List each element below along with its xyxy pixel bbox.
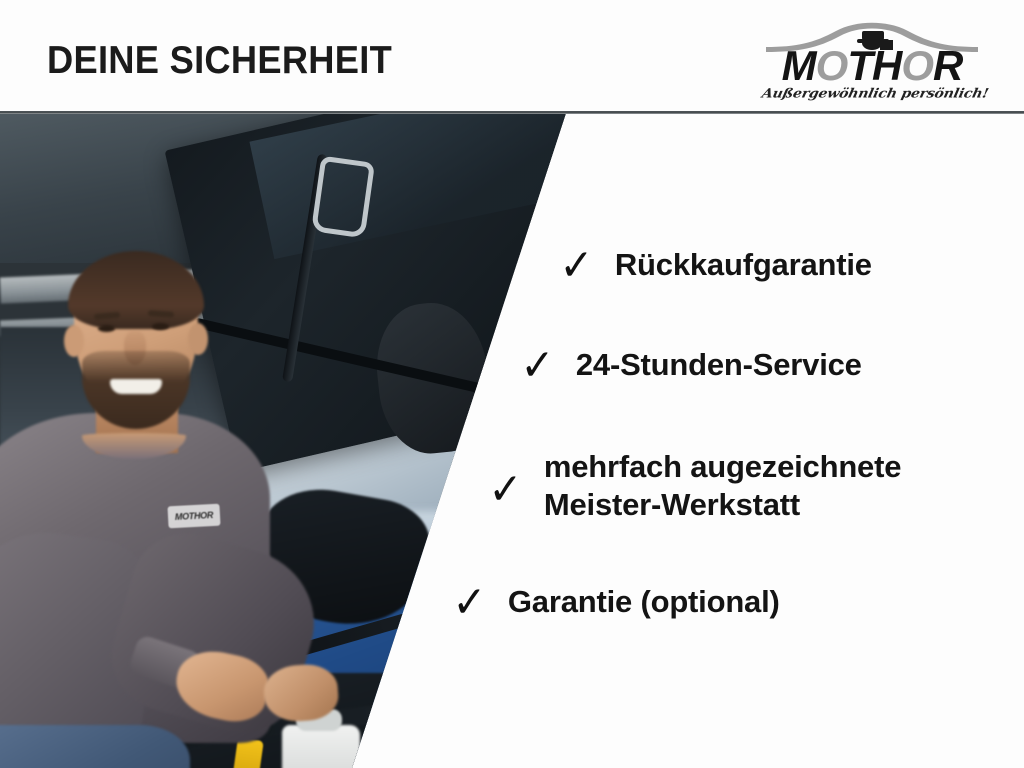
feature-item-meister-werkstatt[interactable]: ✓ mehrfach augezeichnete Meister-Werksta… <box>487 448 901 524</box>
mechanic-ear <box>188 323 208 355</box>
feature-item-garantie-optional[interactable]: ✓ Garantie (optional) <box>451 583 780 623</box>
logo-tagline: Außergewöhnlich persönlich! <box>760 87 983 102</box>
feature-item-24-stunden-service[interactable]: ✓ 24-Stunden-Service <box>519 346 862 386</box>
mechanic-eye <box>98 325 115 332</box>
page-title: DEINE SICHERHEIT <box>47 39 392 83</box>
mechanic-smile <box>110 379 162 394</box>
mothor-logo[interactable]: MOTHOR Außergewöhnlich persönlich! <box>762 18 982 106</box>
hood-latch-icon <box>311 156 375 239</box>
mechanic-eye <box>152 323 169 330</box>
feature-label: Rückkaufgarantie <box>615 246 872 284</box>
feature-label: 24-Stunden-Service <box>576 346 862 384</box>
logo-letter-m: M <box>782 42 816 89</box>
header-bar: DEINE SICHERHEIT MOTHOR Außergewöhnlich … <box>0 0 1024 113</box>
header-divider <box>0 111 1024 114</box>
checkmark-icon: ✓ <box>452 583 486 623</box>
checkmark-icon: ✓ <box>559 246 593 286</box>
logo-letter-o1: O <box>816 42 848 89</box>
workshop-photo: MOTHOR <box>0 113 600 768</box>
mechanic-jeans <box>0 725 190 768</box>
feature-item-rueckkaufgarantie[interactable]: ✓ Rückkaufgarantie <box>558 246 872 286</box>
mechanic-ear <box>64 325 84 357</box>
promo-banner: DEINE SICHERHEIT MOTHOR Außergewöhnlich … <box>0 0 1024 768</box>
feature-label: mehrfach augezeichnete Meister-Werkstatt <box>544 448 901 524</box>
logo-letter-r: R <box>933 42 962 89</box>
logo-wordmark: MOTHOR <box>762 44 982 88</box>
washer-fluid-tank <box>282 725 360 768</box>
logo-letter-o2: O <box>901 42 933 89</box>
checkmark-icon: ✓ <box>520 346 554 386</box>
checkmark-icon: ✓ <box>488 470 522 510</box>
chest-logo: MOTHOR <box>167 504 220 529</box>
logo-letter-h: H <box>872 42 901 89</box>
logo-letter-t: T <box>847 42 872 89</box>
feature-label: Garantie (optional) <box>508 583 780 621</box>
